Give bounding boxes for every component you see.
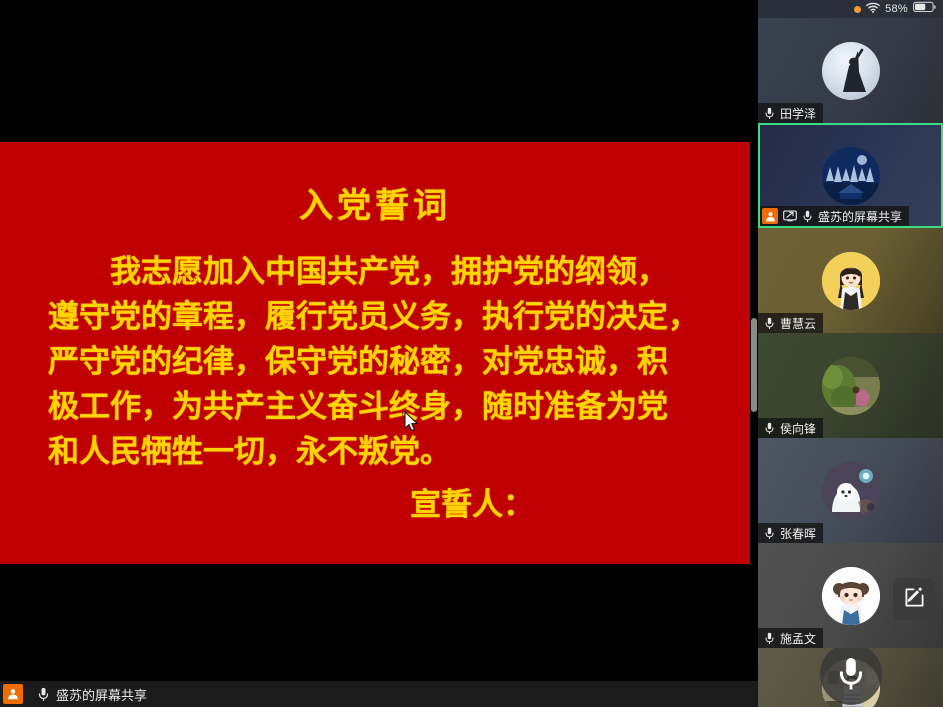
participant-tile[interactable]: 侯向锋: [758, 333, 943, 438]
avatar: [822, 42, 880, 100]
oath-line: 我志愿加入中国共产党，拥护党的纲领，: [48, 249, 702, 294]
system-status-bar: 58%: [758, 0, 943, 18]
oath-line: 严守党的纪律，保守党的秘密，对党忠诚，积: [48, 339, 702, 384]
avatar: [822, 252, 880, 310]
mic-icon: [764, 317, 775, 330]
mic-icon: [37, 687, 50, 702]
oath-line: 和人民牺牲一切，永不叛党。: [48, 429, 702, 474]
shared-screen-area: 入党誓词 我志愿加入中国共产党，拥护党的纲领， 遵守党的章程，履行党员义务，执行…: [0, 0, 758, 707]
annotate-button[interactable]: [893, 578, 935, 620]
participant-name: 盛苏的屏幕共享: [818, 208, 902, 225]
mic-icon: [764, 527, 775, 540]
tile-name-bar: 曹慧云: [758, 313, 823, 333]
avatar: [822, 567, 880, 625]
avatar: [822, 462, 880, 520]
participant-name: 曹慧云: [780, 315, 816, 332]
participant-name: 施孟文: [780, 630, 816, 647]
participant-tile[interactable]: 曹慧云: [758, 228, 943, 333]
tile-name-bar: 侯向锋: [758, 418, 823, 438]
shared-slide: 入党誓词 我志愿加入中国共产党，拥护党的纲领， 遵守党的章程，履行党员义务，执行…: [0, 142, 750, 564]
participant-list-scrollbar[interactable]: [751, 318, 757, 412]
orange-dot-icon: [854, 6, 861, 13]
annotate-pencil-icon: [902, 585, 926, 614]
oath-signer-line: 宣誓人：: [48, 482, 702, 527]
wifi-icon: [866, 0, 880, 18]
tile-name-bar: 田学泽: [758, 103, 823, 123]
tile-name-bar: 张春晖: [758, 523, 823, 543]
mic-icon: [764, 107, 775, 120]
mic-icon: [802, 210, 813, 223]
participant-tile[interactable]: 田学泽: [758, 18, 943, 123]
slide-body: 我志愿加入中国共产党，拥护党的纲领， 遵守党的章程，履行党员义务，执行党的决定，…: [0, 249, 750, 527]
participant-tile[interactable]: 张春晖: [758, 438, 943, 543]
screen-share-icon: [783, 210, 797, 222]
oath-line: 极工作，为共产主义奋斗终身，随时准备为党: [48, 384, 702, 429]
participant-tile-screen-share[interactable]: 盛苏的屏幕共享: [758, 123, 943, 228]
participant-tile[interactable]: [758, 648, 943, 707]
mic-icon: [764, 632, 775, 645]
participant-name: 田学泽: [780, 105, 816, 122]
host-person-icon: [3, 684, 23, 704]
tile-name-bar: 施孟文: [758, 628, 823, 648]
host-person-icon: [762, 208, 778, 224]
oath-line: 遵守党的章程，履行党员义务，执行党的决定，: [48, 294, 702, 339]
battery-icon: [913, 0, 936, 18]
tile-name-bar: 盛苏的屏幕共享: [760, 206, 909, 226]
slide-title: 入党誓词: [0, 188, 750, 225]
participant-name: 张春晖: [780, 525, 816, 542]
share-status-bar: 盛苏的屏幕共享: [0, 681, 758, 707]
participant-name: 侯向锋: [780, 420, 816, 437]
avatar: [822, 147, 880, 205]
battery-percent-label: 58%: [885, 3, 908, 15]
zoom-meeting-window: 入党誓词 我志愿加入中国共产党，拥护党的纲领， 遵守党的章程，履行党员义务，执行…: [0, 0, 943, 707]
mic-icon: [764, 422, 775, 435]
avatar: [822, 357, 880, 415]
share-presenter-name: 盛苏的屏幕共享: [56, 685, 147, 704]
